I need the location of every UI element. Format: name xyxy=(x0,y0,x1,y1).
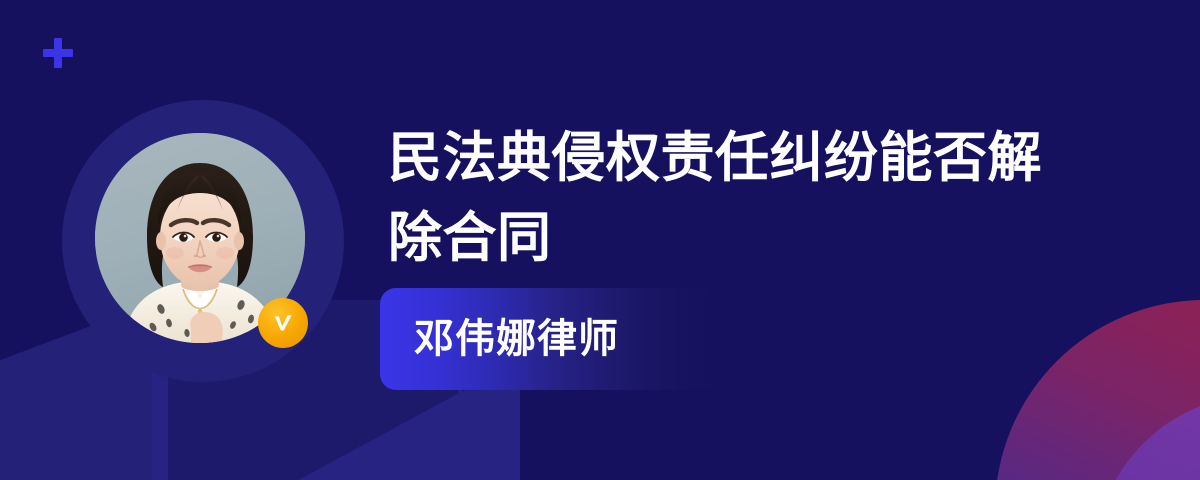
headline-block: 民法典侵权责任纠纷能否解除合同 xyxy=(388,118,1088,278)
avatar xyxy=(95,133,305,343)
author-name-label: 邓伟娜律师 xyxy=(414,319,619,359)
decorative-circle-outer xyxy=(995,300,1200,480)
decorative-circle-inner xyxy=(1095,395,1200,480)
verified-v-icon xyxy=(258,298,308,348)
author-name-button[interactable]: 邓伟娜律师 xyxy=(380,288,716,390)
page-title: 民法典侵权责任纠纷能否解除合同 xyxy=(388,118,1088,278)
plus-icon xyxy=(43,38,73,68)
lawyer-article-banner: 民法典侵权责任纠纷能否解除合同 邓伟娜律师 xyxy=(0,0,1200,480)
